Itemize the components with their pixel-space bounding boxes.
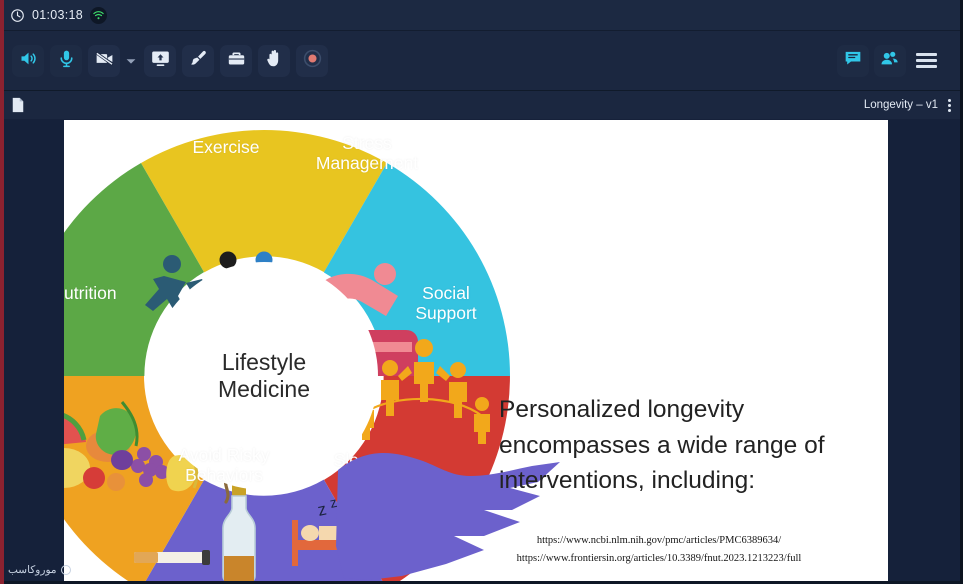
camera-off-icon (94, 48, 115, 74)
share-screen-button[interactable] (144, 45, 176, 77)
citation-link[interactable]: https://www.frontiersin.org/articles/10.… (444, 550, 874, 568)
media-toolbar (0, 31, 963, 91)
briefcase-icon (226, 48, 247, 74)
kebab-dot (948, 109, 951, 112)
brush-icon (188, 48, 209, 74)
toolbar-left-group (0, 45, 328, 77)
speaker-button[interactable] (12, 45, 44, 77)
camera-options[interactable] (125, 48, 137, 74)
record-button[interactable] (296, 45, 328, 77)
kebab-dot (948, 104, 951, 107)
session-timer: 01:03:18 (32, 8, 83, 22)
chevron-down-icon (126, 52, 136, 70)
toolbar-right-group (837, 45, 963, 77)
lifestyle-medicine-wheel: z z z (64, 120, 524, 584)
kebab-menu-icon[interactable] (945, 97, 954, 114)
raise-hand-button[interactable] (258, 45, 290, 77)
tab-right-group: Longevity – v1 (864, 97, 963, 114)
hamburger-menu-icon (916, 65, 937, 68)
raised-hand-icon (264, 48, 285, 74)
microphone-button[interactable] (50, 45, 82, 77)
chat-bubble-icon (843, 48, 863, 73)
document-icon[interactable] (11, 97, 25, 113)
slide-body-text: Personalized longevity encompasses a wid… (499, 392, 869, 499)
watermark: موروکاسب (8, 564, 71, 576)
kebab-dot (948, 99, 951, 102)
chat-button[interactable] (837, 45, 869, 77)
speaker-icon (18, 48, 39, 74)
hamburger-menu-icon (916, 53, 937, 56)
clock-icon (10, 8, 25, 23)
tab-title[interactable]: Longevity – v1 (864, 99, 938, 111)
participants-button[interactable] (874, 45, 906, 77)
document-tab-bar: Longevity – v1 (0, 91, 963, 120)
record-icon (302, 48, 323, 74)
citation-list: https://www.ncbi.nlm.nih.gov/pmc/article… (444, 532, 874, 568)
watermark-text: موروکاسب (8, 564, 57, 576)
hub-line-2: Medicine (218, 376, 310, 403)
status-bar: 01:03:18 (0, 0, 963, 31)
microphone-icon (56, 48, 77, 74)
hamburger-menu-icon (916, 59, 937, 62)
camera-button[interactable] (88, 45, 120, 77)
share-screen-icon (150, 48, 171, 74)
citation-link[interactable]: https://www.ncbi.nlm.nih.gov/pmc/article… (444, 532, 874, 550)
briefcase-button[interactable] (220, 45, 252, 77)
menu-button[interactable] (911, 48, 941, 74)
whiteboard-button[interactable] (182, 45, 214, 77)
app-window: 01:03:18 (0, 0, 963, 584)
hub-line-1: Lifestyle (222, 349, 306, 376)
participants-icon (880, 48, 900, 73)
left-edge-accent (0, 0, 4, 584)
presentation-stage: z z z (0, 120, 963, 584)
wifi-icon (90, 7, 107, 24)
slide-canvas[interactable]: z z z (64, 120, 888, 584)
copyright-icon (61, 565, 71, 575)
